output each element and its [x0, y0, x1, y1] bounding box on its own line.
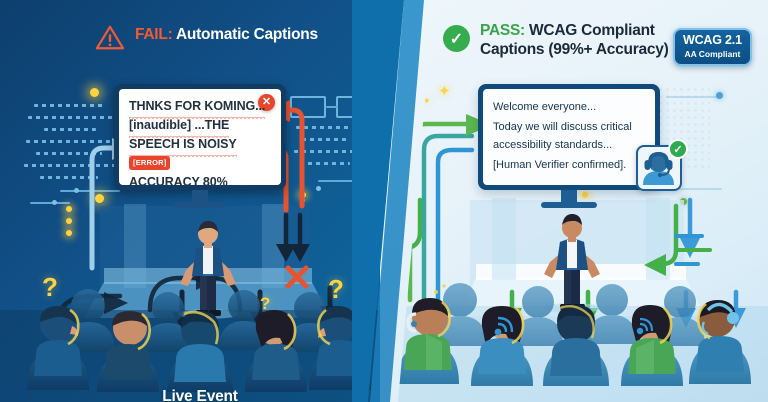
glow-dot [582, 192, 588, 198]
comparison-infographic: ? ? ? [0, 0, 768, 402]
right-header-title: PASS: WCAG Compliant Captions (99%+ Accu… [480, 22, 669, 60]
hearing-aid-icon [408, 314, 417, 331]
caption-line: [inaudible] ...THE [129, 116, 229, 135]
glow-dot [90, 88, 99, 97]
glow-dot [66, 230, 72, 236]
question-mark-icon: ? [328, 274, 344, 305]
caption-line: ACCURACY 80% [129, 175, 228, 185]
wcag-badge-level: AA Compliant [683, 49, 742, 59]
left-bottom-label: Live Event [120, 388, 280, 402]
headset-icon [703, 304, 739, 334]
monitor-base [174, 202, 226, 208]
left-panel-fail: ? ? ? [0, 0, 400, 402]
left-caption-monitor: ✕ THNKS FOR KOMING... [inaudible] ...THE… [114, 84, 286, 190]
monitor-screen: ✕ THNKS FOR KOMING... [inaudible] ...THE… [119, 89, 281, 185]
caption-line: Welcome everyone... [493, 99, 647, 116]
right-tech-node [716, 92, 723, 99]
right-header: ✓ PASS: WCAG Compliant Captions (99%+ Ac… [443, 22, 669, 60]
error-badge: [ERROR] [129, 156, 170, 170]
glow-dot [66, 206, 72, 212]
caption-line: SPEECH IS NOISY [129, 135, 237, 154]
fail-title: Automatic Captions [173, 26, 318, 43]
hearing-signal-icon [495, 318, 512, 335]
right-caption-monitor: Welcome everyone... Today we will discus… [478, 84, 660, 190]
monitor-bezel: ✕ THNKS FOR KOMING... [inaudible] ...THE… [114, 84, 286, 190]
monitor-screen: Welcome everyone... Today we will discus… [483, 89, 655, 185]
caption-line: THNKS FOR KOMING... [129, 97, 265, 116]
verified-check-icon: ✓ [668, 139, 688, 159]
left-header-title: FAIL: Automatic Captions [135, 22, 318, 45]
right-speaker-figure [532, 208, 612, 312]
right-tech-line [676, 188, 722, 190]
monitor-bezel: Welcome everyone... Today we will discus… [478, 84, 660, 190]
pass-tag: PASS: [480, 22, 525, 39]
hearing-signal-icon [637, 319, 652, 334]
fail-tag: FAIL: [135, 26, 173, 43]
monitor-base [541, 202, 597, 208]
right-caption-text: Welcome everyone... Today we will discus… [493, 99, 647, 178]
pass-title-line2: Captions (99%+ Accuracy) [480, 41, 669, 58]
warning-triangle-icon [95, 24, 125, 51]
wcag-badge-version: WCAG 2.1 [683, 34, 742, 48]
question-mark-icon: ? [42, 272, 58, 303]
left-speaker-figure [168, 214, 248, 318]
check-circle-icon: ✓ [443, 25, 470, 52]
glow-dot [300, 192, 306, 198]
caption-line: Today we will discuss critical accessibi… [493, 119, 647, 154]
sparkle-icon: ● [424, 96, 429, 105]
glow-dot [66, 218, 72, 224]
right-tech-node [680, 198, 687, 205]
left-caption-text: THNKS FOR KOMING... [inaudible] ...THE S… [129, 97, 273, 185]
glow-dot [95, 194, 104, 203]
sparkle-icon: ✦ [438, 84, 451, 99]
sparkle-icon: ● [416, 100, 420, 107]
left-header: FAIL: Automatic Captions [95, 22, 318, 51]
wcag-badge: WCAG 2.1 AA Compliant [673, 28, 752, 66]
question-mark-icon: ? [260, 294, 270, 314]
pass-title-line1: WCAG Compliant [525, 22, 655, 39]
human-verifier-chip: ✓ [636, 145, 682, 191]
caption-line: [Human Verifier confirmed]. [493, 157, 647, 174]
right-tech-line [666, 96, 722, 98]
